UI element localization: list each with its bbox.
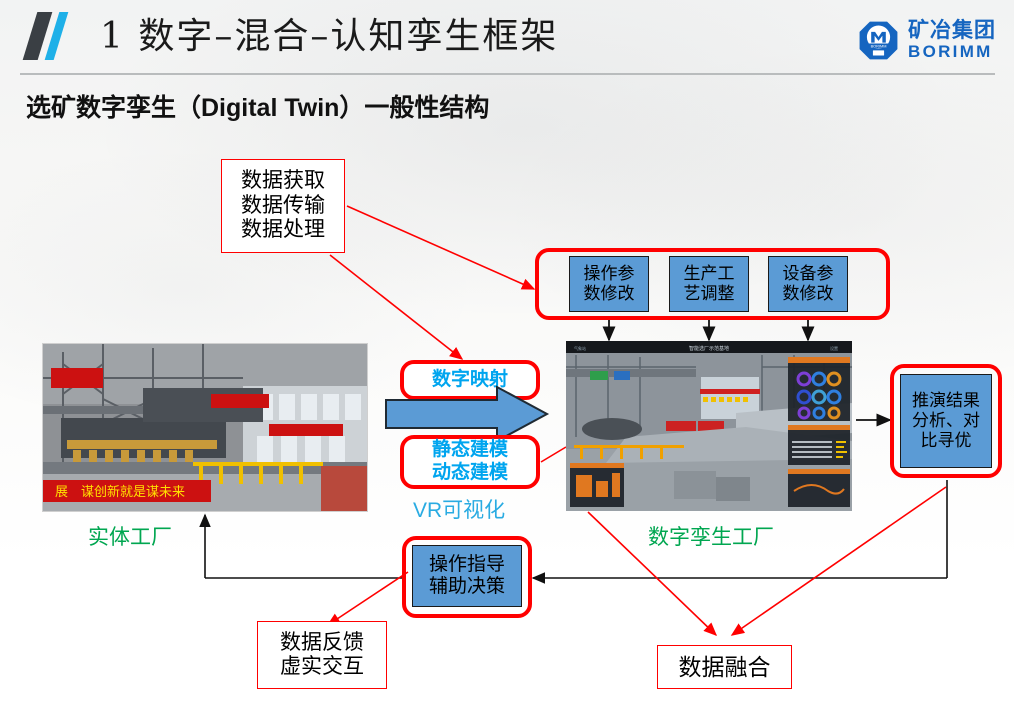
deduction-line-2: 分析、对: [912, 411, 980, 431]
digital-mapping-label: 数字映射: [432, 369, 508, 392]
digital-twin-photo: 智能选厂示范基地 气象站 设置: [566, 341, 852, 511]
deduction-line-3: 比寻优: [921, 431, 972, 451]
header-slash-decoration: [30, 12, 88, 60]
data-fusion-label: 数据融合: [679, 654, 771, 681]
section-subtitle: 选矿数字孪生（Digital Twin）一般性结构: [26, 88, 489, 124]
slide-canvas: 1 数字–混合–认知孪生框架 BORIMM 矿冶集团 BORIMM 选矿数字孪生…: [0, 0, 1014, 721]
slide-header: 1 数字–混合–认知孪生框架 BORIMM 矿冶集团 BORIMM: [0, 0, 1014, 73]
guidance-line-2: 辅助决策: [429, 576, 505, 598]
deduction-line-1: 推演结果: [912, 391, 980, 411]
data-fusion-box[interactable]: 数据融合: [657, 645, 792, 689]
feedback-line-2: 虚实交互: [280, 655, 364, 679]
operation-parameter-line-2: 数修改: [584, 284, 635, 304]
modeling-box[interactable]: 静态建模 动态建模: [400, 435, 540, 489]
svg-text:气象站: 气象站: [574, 345, 586, 351]
process-adjustment-line-2: 艺调整: [684, 284, 735, 304]
operation-guidance-box[interactable]: 操作指导 辅助决策: [412, 545, 522, 607]
device-parameter-line-1: 设备参: [783, 264, 834, 284]
logo-text-cn: 矿冶集团: [908, 20, 996, 41]
data-feedback-box[interactable]: 数据反馈 虚实交互: [257, 621, 387, 689]
data-acquisition-line-3: 数据处理: [241, 218, 325, 242]
deduction-analysis-box[interactable]: 推演结果 分析、对 比寻优: [900, 374, 992, 468]
operation-parameter-box[interactable]: 操作参 数修改: [569, 256, 649, 312]
svg-text:智能选厂示范基地: 智能选厂示范基地: [689, 345, 729, 352]
modeling-line-1: 静态建模: [432, 439, 508, 462]
modeling-line-2: 动态建模: [432, 462, 508, 485]
device-parameter-line-2: 数修改: [783, 284, 834, 304]
guidance-line-1: 操作指导: [429, 554, 505, 576]
feedback-line-1: 数据反馈: [280, 631, 364, 655]
data-acquisition-box[interactable]: 数据获取 数据传输 数据处理: [221, 159, 345, 253]
data-acquisition-line-1: 数据获取: [241, 169, 325, 193]
vr-visualization-label: VR可视化: [413, 494, 505, 524]
svg-text:设置: 设置: [830, 345, 838, 351]
svg-text:展 谋创新就是谋未来: 展 谋创新就是谋未来: [55, 484, 185, 499]
process-adjustment-box[interactable]: 生产工 艺调整: [669, 256, 749, 312]
logo-text-en: BORIMM: [908, 43, 996, 60]
header-divider: [20, 73, 995, 75]
borimm-mark-icon: BORIMM: [857, 19, 900, 62]
data-acquisition-line-2: 数据传输: [241, 194, 325, 218]
digital-mapping-box[interactable]: 数字映射: [400, 360, 540, 400]
device-parameter-box[interactable]: 设备参 数修改: [768, 256, 848, 312]
digital-plant-label: 数字孪生工厂: [648, 521, 774, 551]
page-title: 1 数字–混合–认知孪生框架: [100, 7, 558, 59]
brand-logo: BORIMM 矿冶集团 BORIMM: [857, 18, 996, 62]
svg-text:BORIMM: BORIMM: [871, 43, 887, 48]
physical-plant-label: 实体工厂: [88, 521, 172, 551]
process-adjustment-line-1: 生产工: [684, 264, 735, 284]
physical-plant-photo: 展 谋创新就是谋未来: [42, 343, 368, 512]
operation-parameter-line-1: 操作参: [584, 264, 635, 284]
